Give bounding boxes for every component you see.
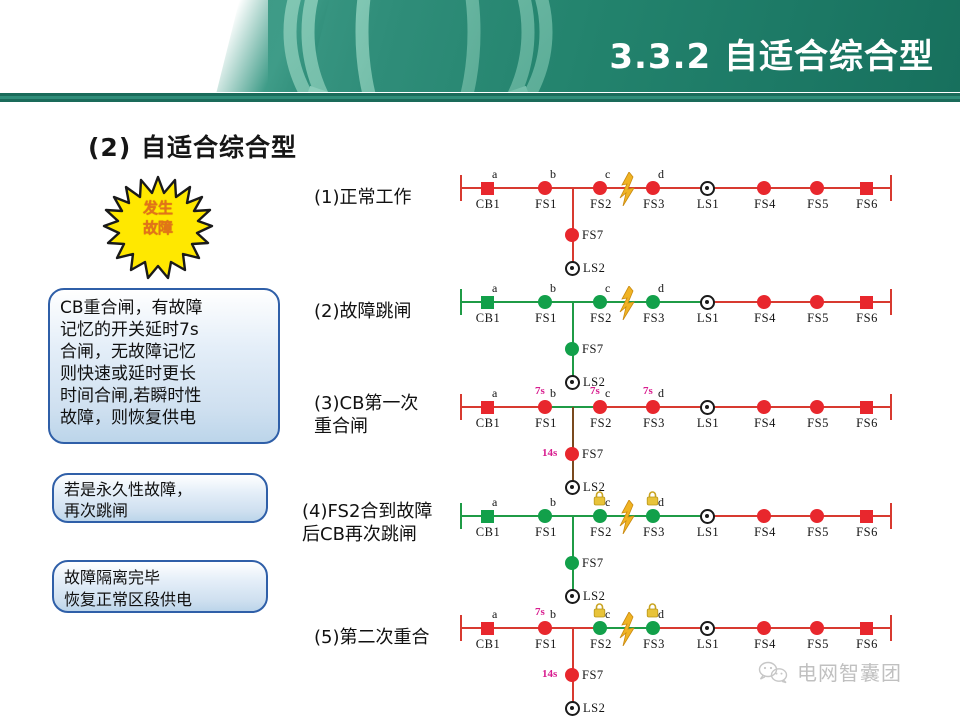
lock-indicator-fs3 — [646, 491, 659, 506]
starburst-line-1: 发生 — [143, 199, 173, 217]
section-label-a: a — [492, 495, 497, 510]
feeder-segment — [707, 627, 764, 629]
node-fs4[interactable] — [757, 400, 771, 414]
node-fs6[interactable] — [860, 510, 873, 523]
callout-line: 记忆的开关延时7s — [60, 319, 268, 341]
node-label-fs3: FS3 — [639, 525, 669, 540]
node-fs3[interactable] — [646, 509, 660, 523]
node-label-fs4: FS4 — [750, 416, 780, 431]
node-fs3[interactable] — [646, 621, 660, 635]
node-label-fs4: FS4 — [750, 525, 780, 540]
page-title: 3.3.2 自适合综合型 — [609, 40, 934, 74]
globe-icon — [268, 0, 568, 92]
node-fs1[interactable] — [538, 400, 552, 414]
lightning-bolt-icon — [618, 612, 636, 646]
node-label-fs4: FS4 — [750, 311, 780, 326]
feeder-segment — [653, 406, 707, 408]
node-ls1[interactable] — [700, 295, 715, 310]
fault-indicator — [618, 500, 636, 534]
node-label-fs2: FS2 — [586, 311, 616, 326]
node-ls1[interactable] — [700, 621, 715, 636]
feeder-segment — [487, 515, 545, 517]
node-cb1[interactable] — [481, 401, 494, 414]
node-label-ls2: LS2 — [583, 261, 605, 276]
node-ls1[interactable] — [700, 181, 715, 196]
node-label-fs5: FS5 — [803, 197, 833, 212]
starburst-text: 发生 故障 — [102, 198, 214, 238]
callout-line: 恢复正常区段供电 — [64, 589, 256, 611]
lightning-bolt-icon — [618, 500, 636, 534]
node-fs6[interactable] — [860, 182, 873, 195]
node-label-fs5: FS5 — [803, 311, 833, 326]
node-ls2[interactable] — [565, 261, 580, 276]
feeder-segment — [487, 406, 545, 408]
fault-indicator — [618, 612, 636, 646]
bus-end-tick — [890, 289, 892, 315]
lock-indicator-fs3 — [646, 603, 659, 618]
node-label-fs3: FS3 — [639, 197, 669, 212]
node-fs7[interactable] — [565, 342, 579, 356]
feeder-segment — [653, 301, 707, 303]
watermark-text: 电网智囊团 — [797, 657, 902, 686]
node-ls2[interactable] — [565, 375, 580, 390]
node-fs1[interactable] — [538, 295, 552, 309]
callout-permanent-fault-note: 若是永久性故障， 再次跳闸 — [52, 473, 268, 523]
node-fs1[interactable] — [538, 181, 552, 195]
node-fs3[interactable] — [646, 181, 660, 195]
node-fs5[interactable] — [810, 509, 824, 523]
node-fs1[interactable] — [538, 621, 552, 635]
timer-label-fs7: 14s — [542, 668, 557, 680]
section-label-b: b — [550, 607, 556, 622]
node-label-fs7: FS7 — [582, 556, 604, 571]
node-fs6[interactable] — [860, 401, 873, 414]
lock-icon — [646, 491, 659, 506]
feeder-segment — [707, 406, 764, 408]
node-label-fs6: FS6 — [852, 311, 882, 326]
node-label-ls1: LS1 — [693, 525, 723, 540]
feeder-segment — [653, 187, 707, 189]
fault-occurs-starburst: 发生 故障 — [102, 174, 214, 282]
node-fs5[interactable] — [810, 400, 824, 414]
node-fs4[interactable] — [757, 509, 771, 523]
row-caption-5: (5)第二次重合 — [314, 626, 430, 649]
node-fs5[interactable] — [810, 621, 824, 635]
row-caption-2: (2)故障跳闸 — [314, 300, 412, 323]
node-label-cb1: CB1 — [473, 637, 503, 652]
node-label-fs1: FS1 — [531, 525, 561, 540]
node-label-fs1: FS1 — [531, 197, 561, 212]
node-label-ls1: LS1 — [693, 311, 723, 326]
fault-indicator — [618, 172, 636, 206]
lock-indicator-fs2 — [593, 491, 606, 506]
timer-label-fs1: 7s — [535, 606, 545, 618]
section-label-b: b — [550, 386, 556, 401]
node-fs2[interactable] — [593, 181, 607, 195]
lock-indicator-fs2 — [593, 603, 606, 618]
node-fs7[interactable] — [565, 668, 579, 682]
feeder-segment — [487, 301, 545, 303]
node-fs6[interactable] — [860, 296, 873, 309]
bus-end-tick — [890, 394, 892, 420]
row-caption-1: (1)正常工作 — [314, 186, 412, 209]
lock-icon — [593, 603, 606, 618]
node-ls1[interactable] — [700, 509, 715, 524]
node-label-fs6: FS6 — [852, 416, 882, 431]
section-label-a: a — [492, 281, 497, 296]
lock-icon — [646, 603, 659, 618]
bus-end-tick — [890, 503, 892, 529]
section-label-a: a — [492, 167, 497, 182]
feeder-segment — [707, 301, 764, 303]
section-label-d: d — [658, 281, 664, 296]
section-label-a: a — [492, 607, 497, 622]
callout-isolation-complete-note: 故障隔离完毕 恢复正常区段供电 — [52, 560, 268, 613]
node-fs2[interactable] — [593, 509, 607, 523]
section-label-b: b — [550, 167, 556, 182]
node-fs4[interactable] — [757, 181, 771, 195]
node-label-fs7: FS7 — [582, 447, 604, 462]
section-label-b: b — [550, 495, 556, 510]
feeder-segment — [487, 187, 545, 189]
node-label-fs2: FS2 — [586, 525, 616, 540]
row-caption-4: (4)FS2合到故障 后CB再次跳闸 — [302, 500, 432, 546]
callout-line: 则快速或延时更长 — [60, 363, 268, 385]
bus-end-tick — [890, 175, 892, 201]
node-label-fs7: FS7 — [582, 668, 604, 683]
wechat-icon — [757, 660, 789, 684]
globe-graphic — [268, 0, 568, 92]
node-label-fs5: FS5 — [803, 525, 833, 540]
node-fs1[interactable] — [538, 509, 552, 523]
node-cb1[interactable] — [481, 622, 494, 635]
node-label-fs3: FS3 — [639, 416, 669, 431]
callout-line: 再次跳闸 — [64, 500, 256, 521]
lightning-bolt-icon — [618, 172, 636, 206]
node-cb1[interactable] — [481, 510, 494, 523]
node-fs7[interactable] — [565, 228, 579, 242]
node-label-ls2: LS2 — [583, 701, 605, 716]
feeder-segment — [487, 627, 545, 629]
node-label-cb1: CB1 — [473, 525, 503, 540]
node-label-fs7: FS7 — [582, 342, 604, 357]
node-label-fs4: FS4 — [750, 637, 780, 652]
node-fs6[interactable] — [860, 622, 873, 635]
slide-header: 3.3.2 自适合综合型 — [0, 0, 960, 92]
bus-end-tick — [890, 615, 892, 641]
node-cb1[interactable] — [481, 182, 494, 195]
timer-label-fs3: 7s — [643, 385, 653, 397]
node-ls1[interactable] — [700, 400, 715, 415]
callout-line: 故障，则恢复供电 — [60, 407, 268, 429]
node-label-fs1: FS1 — [531, 311, 561, 326]
node-label-fs1: FS1 — [531, 416, 561, 431]
timer-label-fs7: 14s — [542, 447, 557, 459]
node-label-fs6: FS6 — [852, 197, 882, 212]
timer-label-fs2: 7s — [590, 385, 600, 397]
node-fs4[interactable] — [757, 295, 771, 309]
callout-line: 合闸，无故障记忆 — [60, 341, 268, 363]
callout-line: 时间合闸,若瞬时性 — [60, 385, 268, 407]
callout-cb-reclose-note: CB重合闸，有故障 记忆的开关延时7s 合闸，无故障记忆 则快速或延时更长 时间… — [48, 288, 280, 444]
node-fs5[interactable] — [810, 181, 824, 195]
section-label-a: a — [492, 386, 497, 401]
node-fs7[interactable] — [565, 447, 579, 461]
section-label-c: c — [605, 167, 610, 182]
fault-indicator — [618, 286, 636, 320]
timer-label-fs1: 7s — [535, 385, 545, 397]
node-label-fs5: FS5 — [803, 416, 833, 431]
node-fs5[interactable] — [810, 295, 824, 309]
node-label-fs3: FS3 — [639, 311, 669, 326]
node-label-fs3: FS3 — [639, 637, 669, 652]
feeder-segment — [653, 515, 707, 517]
row-caption-3: (3)CB第一次 重合闸 — [314, 392, 418, 438]
node-fs4[interactable] — [757, 621, 771, 635]
section-label-b: b — [550, 281, 556, 296]
node-label-fs1: FS1 — [531, 637, 561, 652]
starburst-line-2: 故障 — [143, 219, 173, 237]
feeder-segment — [707, 187, 764, 189]
node-label-fs6: FS6 — [852, 637, 882, 652]
node-label-fs4: FS4 — [750, 197, 780, 212]
node-label-cb1: CB1 — [473, 197, 503, 212]
callout-line: 故障隔离完毕 — [64, 567, 256, 589]
lightning-bolt-icon — [618, 286, 636, 320]
node-fs3[interactable] — [646, 400, 660, 414]
node-ls2[interactable] — [565, 589, 580, 604]
callout-line: 若是永久性故障， — [64, 479, 256, 500]
node-ls2[interactable] — [565, 480, 580, 495]
callout-line: CB重合闸，有故障 — [60, 297, 268, 319]
node-fs2[interactable] — [593, 400, 607, 414]
lock-icon — [593, 491, 606, 506]
section-label-c: c — [605, 386, 610, 401]
section-label-d: d — [658, 167, 664, 182]
section-label-d: d — [658, 386, 664, 401]
node-fs2[interactable] — [593, 295, 607, 309]
node-fs2[interactable] — [593, 621, 607, 635]
node-label-fs2: FS2 — [586, 197, 616, 212]
node-fs7[interactable] — [565, 556, 579, 570]
node-cb1[interactable] — [481, 296, 494, 309]
node-label-ls2: LS2 — [583, 589, 605, 604]
node-ls2[interactable] — [565, 701, 580, 716]
node-label-ls1: LS1 — [693, 416, 723, 431]
section-subtitle: (2) 自适合综合型 — [88, 128, 297, 164]
node-label-fs2: FS2 — [586, 416, 616, 431]
node-label-fs5: FS5 — [803, 637, 833, 652]
section-label-c: c — [605, 281, 610, 296]
node-label-fs6: FS6 — [852, 525, 882, 540]
feeder-segment — [707, 515, 764, 517]
node-label-fs7: FS7 — [582, 228, 604, 243]
node-label-ls1: LS1 — [693, 637, 723, 652]
feeder-segment — [653, 627, 707, 629]
node-label-cb1: CB1 — [473, 416, 503, 431]
node-label-ls1: LS1 — [693, 197, 723, 212]
header-rule-highlight — [0, 96, 960, 99]
node-label-cb1: CB1 — [473, 311, 503, 326]
watermark: 电网智囊团 — [757, 657, 902, 686]
node-label-fs2: FS2 — [586, 637, 616, 652]
node-fs3[interactable] — [646, 295, 660, 309]
slide-root: 3.3.2 自适合综合型 (2) 自适合综合型 发生 故障 CB重合闸，有故障 … — [0, 0, 960, 720]
